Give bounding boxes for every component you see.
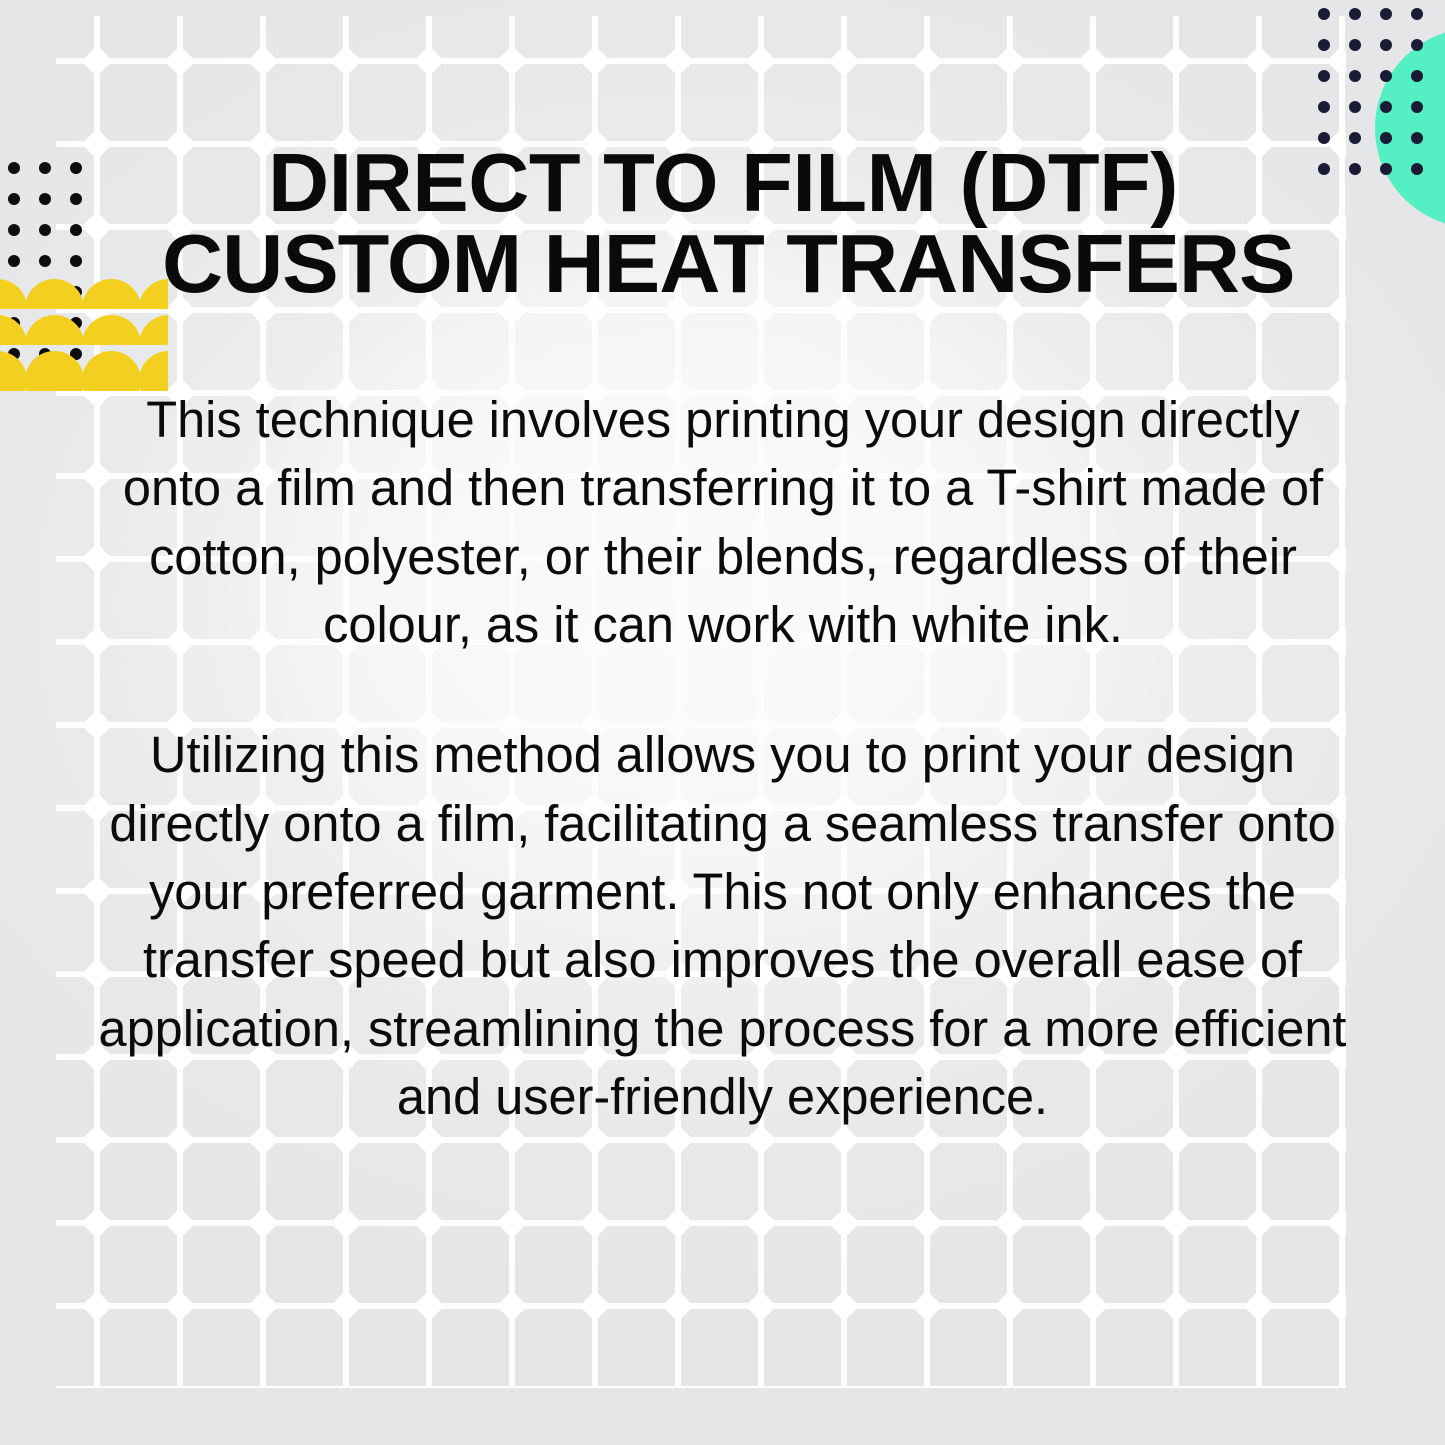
paragraph-1: This technique involves printing your de… (104, 386, 1342, 659)
page-title: DIRECT TO FILM (DTF) CUSTOM HEAT TRANSFE… (162, 143, 1284, 304)
page-title-line-1: DIRECT TO FILM (DTF) (162, 143, 1284, 224)
poster-canvas: DIRECT TO FILM (DTF) CUSTOM HEAT TRANSFE… (0, 0, 1445, 1445)
page-title-line-2: CUSTOM HEAT TRANSFERS (162, 224, 1284, 305)
body-copy: This technique involves printing your de… (90, 386, 1355, 1131)
poster-content: DIRECT TO FILM (DTF) CUSTOM HEAT TRANSFE… (0, 0, 1445, 1445)
paragraph-2: Utilizing this method allows you to prin… (96, 721, 1348, 1131)
